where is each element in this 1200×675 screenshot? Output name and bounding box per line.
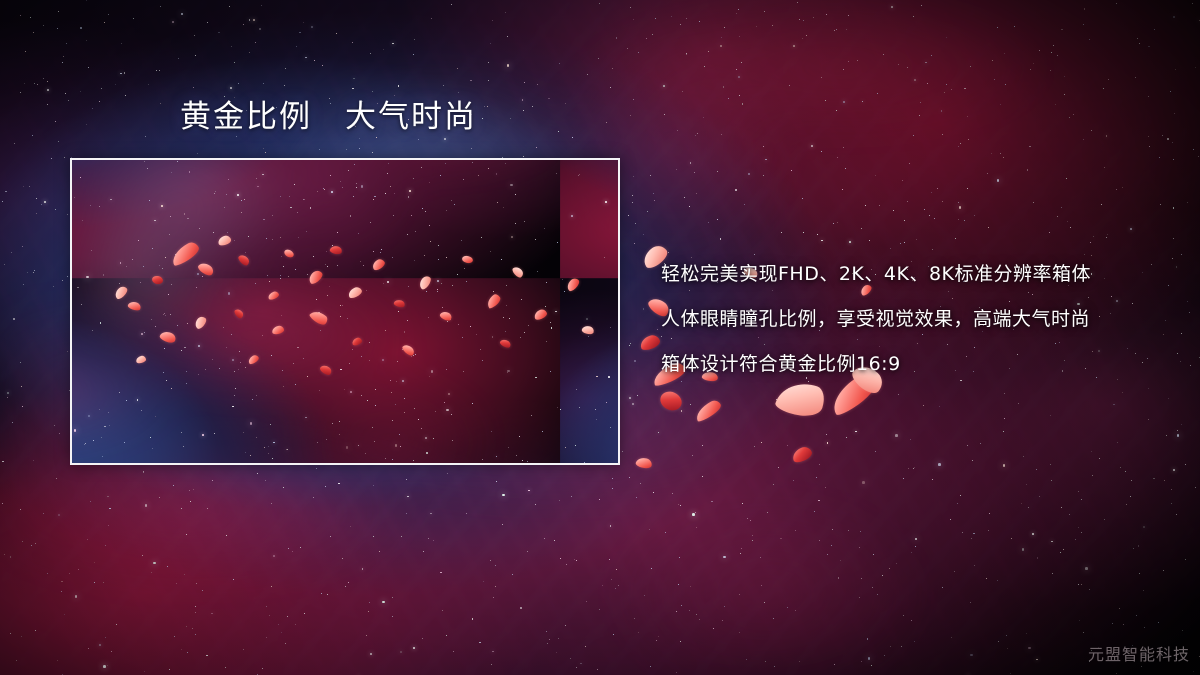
petal xyxy=(511,265,525,279)
petal xyxy=(484,293,502,310)
feature-line-2: 人体眼睛瞳孔比例，享受视觉效果，高端大气时尚 xyxy=(661,297,1161,342)
petal xyxy=(439,310,453,323)
petal xyxy=(283,248,295,259)
feature-line-1: 轻松完美实现FHD、2K、4K、8K标准分辨率箱体 xyxy=(661,252,1161,297)
petal xyxy=(371,257,387,271)
petal xyxy=(565,276,581,292)
petal xyxy=(197,260,216,277)
petal xyxy=(247,354,260,366)
petal xyxy=(581,325,595,336)
petal xyxy=(319,363,333,377)
petal xyxy=(159,329,178,344)
petal xyxy=(401,343,416,358)
petal xyxy=(347,285,363,299)
presentation-slide: 黄金比例 大气时尚 轻松完美实现FHD、2K、4K、8K标准分辨率箱体 人体眼睛… xyxy=(0,0,1200,675)
petal xyxy=(393,298,406,308)
cabinet-preview-frame[interactable] xyxy=(70,158,620,465)
petal xyxy=(461,255,473,264)
petal xyxy=(351,337,363,347)
petal xyxy=(217,234,232,246)
petal xyxy=(113,284,129,300)
company-watermark: 元盟智能科技 xyxy=(1088,641,1190,665)
petal xyxy=(267,290,280,300)
feature-description: 轻松完美实现FHD、2K、4K、8K标准分辨率箱体 人体眼睛瞳孔比例，享受视觉效… xyxy=(661,252,1161,387)
petal xyxy=(233,307,244,319)
petal xyxy=(307,268,325,285)
petal xyxy=(271,325,284,335)
petal xyxy=(151,275,163,285)
petal xyxy=(499,338,512,350)
petal xyxy=(127,300,142,312)
petal-field-inside xyxy=(72,160,618,463)
petal xyxy=(329,245,343,256)
petal xyxy=(417,274,433,291)
petal xyxy=(168,240,202,267)
petal xyxy=(193,315,208,331)
petal xyxy=(309,308,330,328)
petal xyxy=(533,308,548,321)
petal xyxy=(237,253,251,267)
slide-title: 黄金比例 大气时尚 xyxy=(180,99,477,136)
feature-line-3: 箱体设计符合黄金比例16:9 xyxy=(661,342,1161,387)
petal xyxy=(135,355,146,364)
